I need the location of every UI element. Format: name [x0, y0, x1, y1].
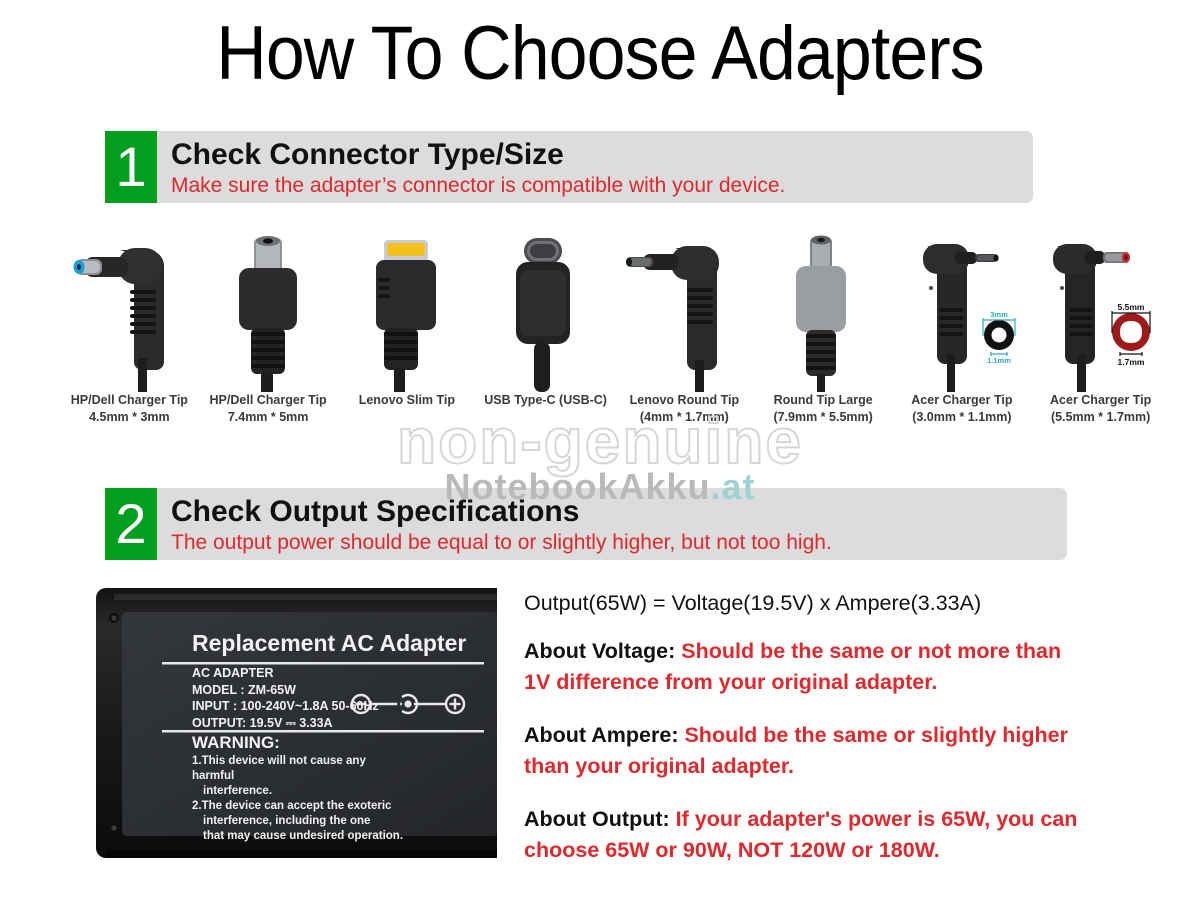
- acer-30-inner-dimension-label: 1.1mm: [987, 356, 1011, 365]
- connector-item-lenovo-slim[interactable]: Lenovo Slim Tip: [338, 232, 477, 444]
- about-ampere-label: About Ampere:: [524, 723, 678, 747]
- connector-label-line1: USB Type-C (USB-C): [484, 392, 607, 409]
- adapter-warning-heading: WARNING:: [192, 733, 280, 753]
- rectangular-slim-tip-yellow-icon: [338, 232, 477, 392]
- connector-label-line2: (7.9mm * 5.5mm): [773, 409, 872, 426]
- connector-item-round-large[interactable]: Round Tip Large (7.9mm * 5.5mm): [754, 232, 893, 444]
- connector-label-line1: Lenovo Round Tip: [630, 392, 739, 409]
- adapter-spec-line-3: OUTPUT: 19.5V ⎓ 3.33A: [192, 715, 379, 732]
- adapter-label-specs: AC ADAPTER MODEL : ZM-65W INPUT : 100-24…: [192, 665, 379, 731]
- about-output-label: About Output:: [524, 807, 670, 831]
- adapter-warning-line-0: 1.This device will not cause any harmful: [192, 754, 407, 784]
- about-voltage-label: About Voltage:: [524, 639, 675, 663]
- connector-label-line2: (3.0mm * 1.1mm): [912, 409, 1011, 426]
- adapter-spec-line-0: AC ADAPTER: [192, 665, 379, 682]
- connector-label-line1: HP/Dell Charger Tip: [71, 392, 188, 409]
- straight-barrel-plug-chrome-tip-icon: [199, 232, 338, 392]
- usb-type-c-plug-icon: [476, 232, 615, 392]
- step-1-header: 1 Check Connector Type/Size Make sure th…: [105, 131, 1033, 203]
- right-angle-plug-red-tip-with-ring-diagram-icon: 5.5mm 1.7mm: [1031, 232, 1170, 392]
- step-2-number-badge: 2: [105, 488, 157, 560]
- connector-item-acer-55[interactable]: 5.5mm 1.7mm Acer Charger Tip (5.5mm * 1.…: [1031, 232, 1170, 444]
- adapter-warning-line-3: interference, including the one: [192, 814, 407, 829]
- adapter-warning-line-1: interference.: [192, 784, 407, 799]
- acer-30-outer-dimension-label: 3mm: [990, 310, 1008, 319]
- connector-item-acer-30[interactable]: 3mm 1.1mm Acer Charger Tip (3.0mm * 1.1m…: [893, 232, 1032, 444]
- connector-label-line2: 7.4mm * 5mm: [228, 409, 309, 426]
- connector-label-line1: Acer Charger Tip: [911, 392, 1012, 409]
- right-angle-barrel-plug-blue-tip-icon: [60, 232, 199, 392]
- acer-55-outer-dimension-label: 5.5mm: [1118, 302, 1145, 312]
- connector-item-lenovo-round[interactable]: Lenovo Round Tip (4mm * 1.7mm): [615, 232, 754, 444]
- connector-label-line2: (5.5mm * 1.7mm): [1051, 409, 1150, 426]
- right-angle-plug-with-ring-diagram-icon: 3mm 1.1mm: [893, 232, 1032, 392]
- right-angle-thin-barrel-plug-icon: [615, 232, 754, 392]
- step-1-title: Check Connector Type/Size: [171, 137, 1019, 172]
- step-2-text-container: Check Output Specifications The output p…: [157, 488, 1067, 560]
- connector-label-line1: Lenovo Slim Tip: [359, 392, 455, 409]
- step-1-text-container: Check Connector Type/Size Make sure the …: [157, 131, 1033, 203]
- step-2-title: Check Output Specifications: [171, 494, 1053, 529]
- acer-55-inner-dimension-label: 1.7mm: [1118, 357, 1145, 367]
- connector-label-line1: Acer Charger Tip: [1050, 392, 1151, 409]
- adapter-label-title: Replacement AC Adapter: [192, 630, 466, 657]
- output-formula: Output(65W) = Voltage(19.5V) x Ampere(3.…: [524, 588, 1084, 619]
- connector-item-hp-dell-45[interactable]: HP/Dell Charger Tip 4.5mm * 3mm: [60, 232, 199, 444]
- step-1-number-badge: 1: [105, 131, 157, 203]
- adapter-spec-line-1: MODEL : ZM-65W: [192, 682, 379, 699]
- adapter-warning-line-4: that may cause undesired operation.: [192, 829, 407, 844]
- about-ampere-block: About Ampere: Should be the same or slig…: [524, 720, 1084, 782]
- about-voltage-block: About Voltage: Should be the same or not…: [524, 636, 1084, 698]
- page-title: How To Choose Adapters: [48, 8, 1152, 100]
- connector-gallery: HP/Dell Charger Tip 4.5mm * 3mm: [60, 232, 1170, 444]
- connector-label-line2: (4mm * 1.7mm): [640, 409, 729, 426]
- connector-label-line2: 4.5mm * 3mm: [89, 409, 170, 426]
- step-2-header: 2 Check Output Specifications The output…: [105, 488, 1067, 560]
- about-output-block: About Output: If your adapter's power is…: [524, 804, 1084, 866]
- connector-label-line1: HP/Dell Charger Tip: [210, 392, 327, 409]
- gray-straight-barrel-plug-icon: [754, 232, 893, 392]
- adapter-spec-line-2: INPUT : 100-240V~1.8A 50-60Hz: [192, 698, 379, 715]
- connector-item-hp-dell-74[interactable]: HP/Dell Charger Tip 7.4mm * 5mm: [199, 232, 338, 444]
- connector-label-line1: Round Tip Large: [774, 392, 873, 409]
- adapter-warning-body: 1.This device will not cause any harmful…: [192, 754, 407, 844]
- step-2-subtitle: The output power should be equal to or s…: [171, 529, 1053, 556]
- adapter-warning-line-2: 2.The device can accept the exoteric: [192, 799, 407, 814]
- connector-item-usb-c[interactable]: USB Type-C (USB-C): [476, 232, 615, 444]
- step-1-subtitle: Make sure the adapter’s connector is com…: [171, 172, 1019, 199]
